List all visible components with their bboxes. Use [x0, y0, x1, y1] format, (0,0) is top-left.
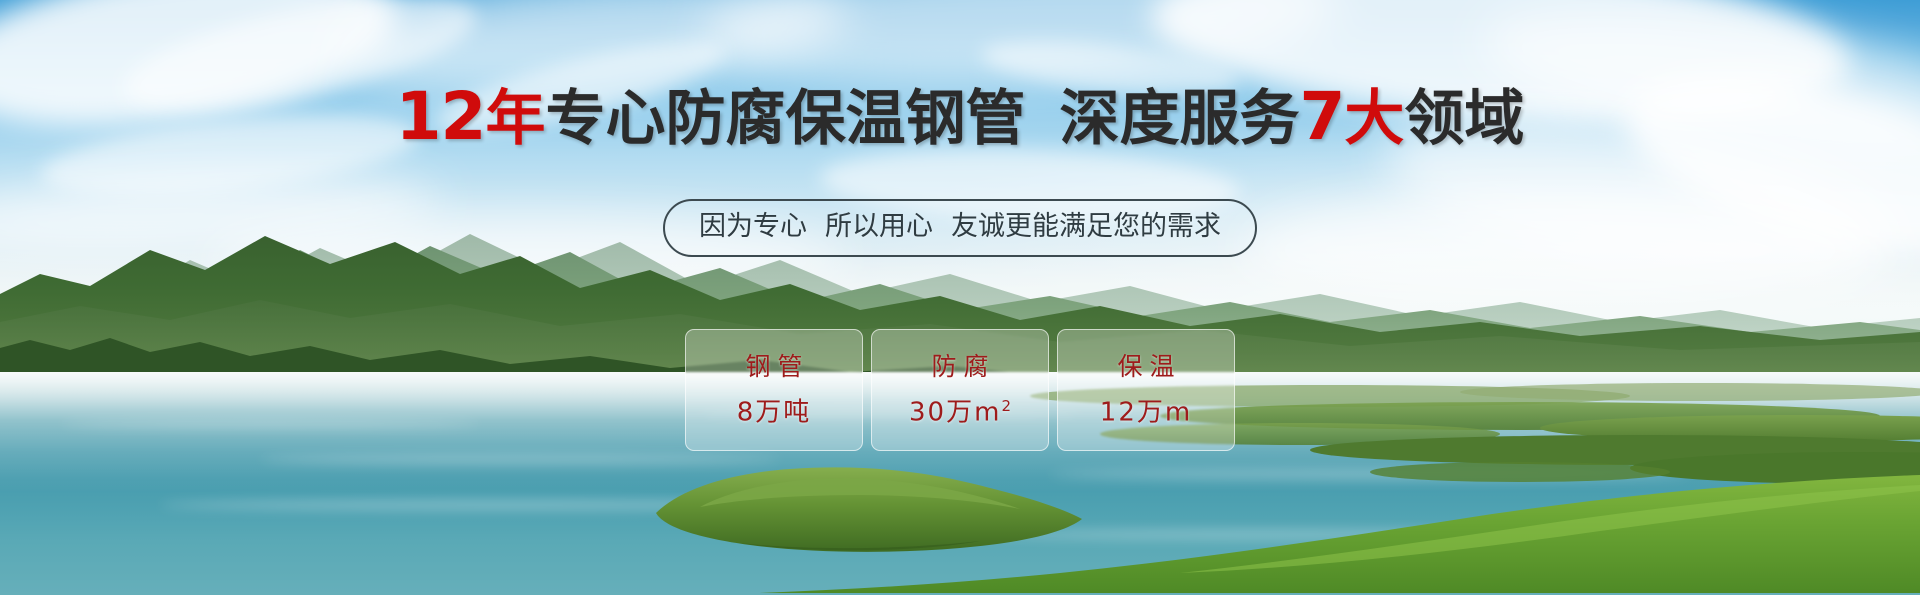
hero-banner: 12年专心防腐保温钢管深度服务7大领域 因为专心所以用心友诚更能满足您的需求 钢…	[0, 0, 1920, 595]
stat-card-value: 12万m	[1100, 391, 1192, 428]
headline-service: 深度服务	[1059, 84, 1299, 154]
stat-card-title: 钢管	[738, 353, 809, 381]
stat-card-group: 钢管 8万吨 防腐 30万m2 保温 12万m	[685, 329, 1235, 451]
banner-subtitle-pill: 因为专心所以用心友诚更能满足您的需求	[663, 199, 1257, 257]
stat-card-value: 8万吨	[737, 391, 812, 428]
stat-card-value: 30万m2	[909, 391, 1011, 428]
stat-card-insulation: 保温 12万m	[1057, 329, 1235, 451]
headline-years-unit: 年	[485, 84, 545, 154]
banner-content: 12年专心防腐保温钢管深度服务7大领域 因为专心所以用心友诚更能满足您的需求 钢…	[0, 0, 1920, 595]
stat-value-text: 30万m	[909, 397, 1001, 427]
stat-card-anticorrosion: 防腐 30万m2	[871, 329, 1049, 451]
stat-value-superscript: 2	[1001, 397, 1011, 415]
subtitle-part-3: 友诚更能满足您的需求	[951, 211, 1221, 242]
headline-fields: 领域	[1404, 84, 1524, 154]
headline-years-number: 12	[396, 78, 486, 155]
stat-value-text: 8万吨	[737, 397, 812, 427]
banner-headline: 12年专心防腐保温钢管深度服务7大领域	[0, 82, 1920, 154]
stat-value-text: 12万m	[1100, 397, 1192, 427]
subtitle-part-2: 所以用心	[825, 211, 933, 242]
subtitle-part-1: 因为专心	[699, 211, 807, 242]
headline-seven-number: 7	[1299, 78, 1344, 155]
stat-card-title: 防腐	[924, 353, 995, 381]
headline-big: 大	[1344, 84, 1404, 154]
stat-card-steel-pipe: 钢管 8万吨	[685, 329, 863, 451]
stat-card-title: 保温	[1110, 353, 1181, 381]
headline-main: 专心防腐保温钢管	[545, 84, 1025, 154]
